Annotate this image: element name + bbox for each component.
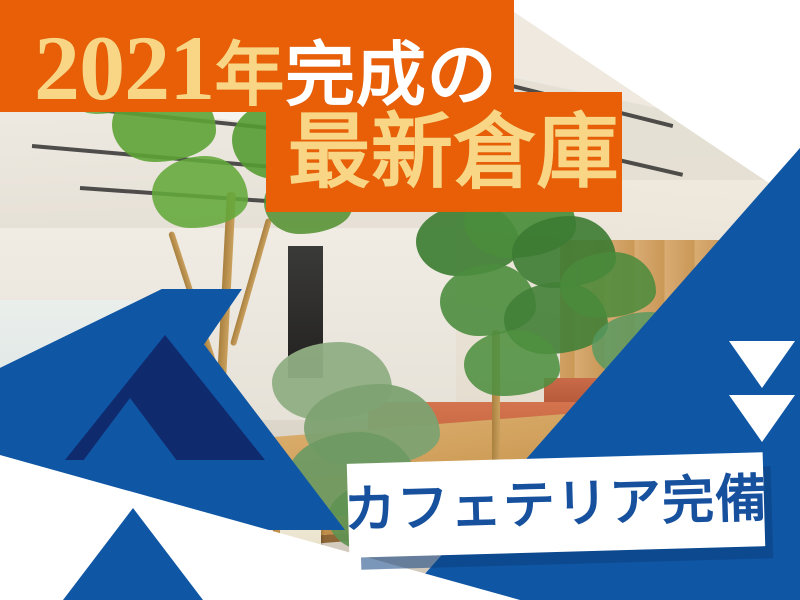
- coffee-machine: [124, 321, 196, 387]
- headline-line-2: 最新倉庫: [288, 112, 619, 194]
- blue-triangle-small: [63, 508, 203, 600]
- headline-year-suffix: 年: [214, 36, 285, 114]
- headline-year: 2021: [34, 17, 214, 119]
- bottom-banner: カフェテリア完備: [347, 452, 765, 558]
- promotional-banner: 2021年完成の 最新倉庫 カフェテリア完備: [0, 0, 800, 600]
- chair: [88, 486, 129, 570]
- chair: [136, 495, 177, 579]
- chair: [184, 504, 225, 588]
- headline-line-1-white: 完成の: [285, 36, 497, 114]
- foliage: [560, 252, 656, 318]
- headline-line-1: 2021年完成の: [34, 22, 497, 114]
- foliage: [464, 330, 560, 396]
- chair: [232, 513, 273, 597]
- bottom-banner-text: カフェテリア完備: [343, 473, 769, 537]
- chair: [280, 522, 321, 600]
- foliage: [152, 156, 248, 228]
- foliage: [672, 330, 776, 390]
